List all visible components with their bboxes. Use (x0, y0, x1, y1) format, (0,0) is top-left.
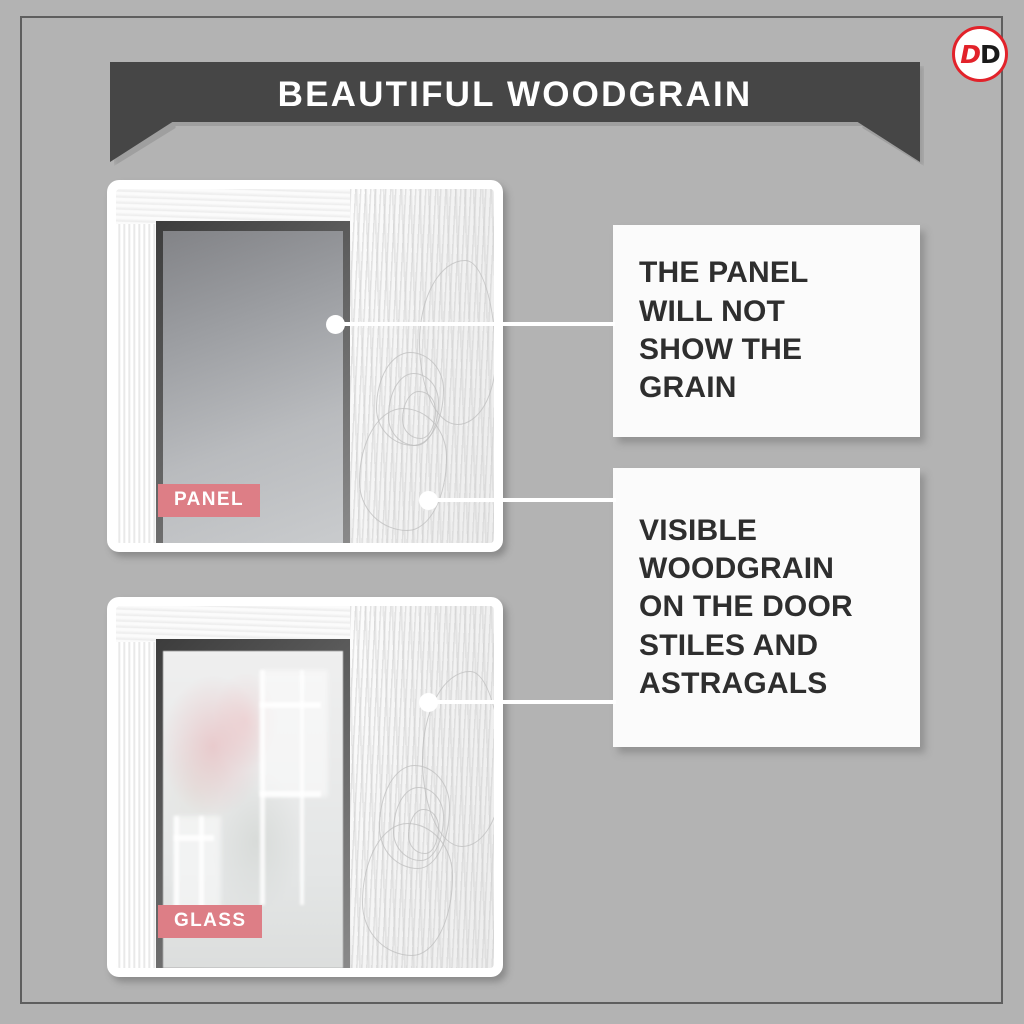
door-stile-grain-bottom (350, 606, 494, 968)
woodgrain-swirl-icon (359, 408, 447, 530)
callout-dot-panel-face (326, 315, 345, 334)
callout-panel-text: THE PANEL WILL NOT SHOW THE GRAIN (613, 254, 835, 408)
woodgrain-swirl-icon (419, 260, 494, 425)
window-mullion-icon (174, 816, 178, 917)
glass-badge: GLASS (158, 905, 262, 938)
window-reflection-icon (174, 816, 221, 911)
brand-logo: DD (952, 26, 1008, 82)
callout-panel-box: THE PANEL WILL NOT SHOW THE GRAIN (613, 225, 920, 437)
door-astragal-top-bottom (116, 606, 350, 642)
window-reflection-icon (260, 670, 328, 797)
header-banner: BEAUTIFUL WOODGRAIN (110, 62, 920, 162)
callout-dot-stile-top (419, 491, 438, 510)
connector-line-panel (335, 322, 615, 326)
logo-letter-d-black: D (980, 40, 1000, 69)
callout-woodgrain-box: VISIBLE WOODGRAIN ON THE DOOR STILES AND… (613, 468, 920, 747)
logo-letter-d-red: D (960, 40, 980, 69)
woodgrain-swirl-icon (362, 823, 453, 955)
callout-woodgrain-text: VISIBLE WOODGRAIN ON THE DOOR STILES AND… (613, 512, 879, 704)
panel-badge: PANEL (158, 484, 260, 517)
window-mullion-icon (260, 702, 321, 708)
window-mullion-icon (260, 791, 321, 797)
window-mullion-icon (174, 835, 214, 841)
door-astragal-top-top (116, 189, 350, 224)
header-banner-shape: BEAUTIFUL WOODGRAIN (110, 62, 920, 162)
callout-dot-stile-bottom (419, 693, 438, 712)
page-title: BEAUTIFUL WOODGRAIN (278, 75, 753, 115)
window-mullion-icon (199, 816, 203, 917)
infographic-page: DD BEAUTIFUL WOODGRAIN (0, 0, 1024, 1024)
logo-lettermark: DD (960, 42, 1000, 67)
door-stile-grain-top (350, 189, 494, 543)
connector-line-stile-top (428, 498, 616, 502)
connector-line-stile-bottom (428, 700, 616, 704)
